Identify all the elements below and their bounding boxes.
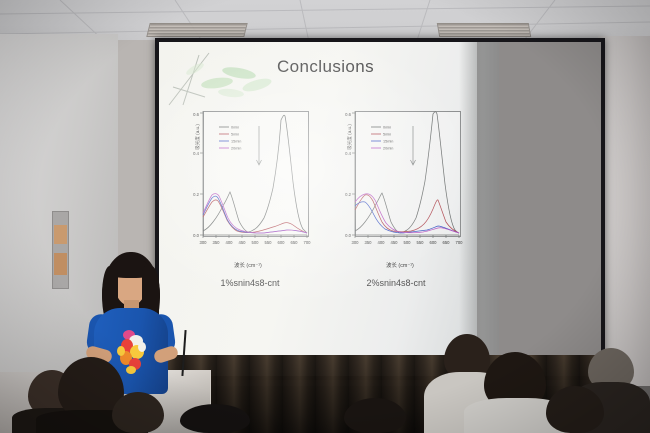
- chart-left-ylabel: 吸光度 (a.u.): [195, 98, 201, 176]
- svg-text:300: 300: [200, 240, 208, 245]
- svg-text:600: 600: [278, 240, 286, 245]
- chart-right-ylabel: 吸光度 (a.u.): [347, 98, 353, 176]
- projected-slide: Conclusions: [159, 42, 477, 376]
- svg-text:350: 350: [365, 240, 373, 245]
- svg-text:0min: 0min: [231, 126, 239, 130]
- air-vent: [437, 23, 531, 37]
- svg-text:0.0: 0.0: [345, 233, 351, 238]
- svg-text:400: 400: [378, 240, 386, 245]
- chart-right-xlabel: 波长 (cm⁻¹): [335, 261, 465, 269]
- svg-text:300: 300: [352, 240, 360, 245]
- bamboo-leaves-image: [165, 47, 285, 109]
- wall-mounted-brochure-rack: [52, 211, 69, 289]
- svg-text:15min: 15min: [383, 140, 393, 144]
- projection-screen: Conclusions: [155, 38, 605, 380]
- slide-title: Conclusions: [277, 57, 374, 77]
- audience-member: [344, 398, 406, 433]
- screen-surface: Conclusions: [159, 42, 601, 376]
- brochure-card: [54, 253, 67, 275]
- svg-text:20min: 20min: [383, 147, 393, 151]
- svg-text:5min: 5min: [383, 133, 391, 137]
- svg-text:0.2: 0.2: [193, 192, 199, 197]
- chart-right-legend: 0min 5min 15min 20min: [371, 126, 393, 151]
- svg-text:700: 700: [304, 240, 312, 245]
- svg-text:700: 700: [456, 240, 464, 245]
- caption-right: 2%snin4s8-cnt: [321, 278, 471, 288]
- trend-arrow-icon: [411, 126, 416, 165]
- svg-text:0min: 0min: [383, 126, 391, 130]
- caption-left: 1%snin4s8-cnt: [175, 278, 325, 288]
- chart-right-svg: 300350 400450 500550 600650 700 0.00.2 0…: [335, 108, 465, 258]
- svg-text:450: 450: [239, 240, 247, 245]
- svg-text:0.2: 0.2: [345, 192, 351, 197]
- air-vent: [146, 23, 247, 37]
- chart-left: 300350 400450 500550 600650 700 0.00.2 0…: [183, 108, 313, 268]
- chart-left-legend: 0min 5min 15min 20min: [219, 126, 241, 151]
- svg-text:0.0: 0.0: [193, 233, 199, 238]
- svg-text:500: 500: [404, 240, 412, 245]
- svg-text:550: 550: [417, 240, 425, 245]
- trend-arrow-icon: [257, 126, 262, 165]
- svg-text:650: 650: [443, 240, 451, 245]
- chart-right: 300350 400450 500550 600650 700 0.00.2 0…: [335, 108, 465, 268]
- svg-text:5min: 5min: [231, 133, 239, 137]
- svg-text:450: 450: [391, 240, 399, 245]
- svg-text:20min: 20min: [231, 147, 241, 151]
- audience-member: [180, 404, 250, 433]
- svg-text:400: 400: [226, 240, 234, 245]
- svg-text:500: 500: [252, 240, 260, 245]
- svg-text:650: 650: [291, 240, 299, 245]
- shirt-graphic-icon: [112, 326, 152, 374]
- chart-left-svg: 300350 400450 500550 600650 700 0.00.2 0…: [183, 108, 313, 258]
- presentation-room-photo: Conclusions: [0, 0, 650, 433]
- audience-member: [112, 392, 164, 433]
- brochure-card: [54, 225, 67, 244]
- projection-falloff: [459, 42, 499, 376]
- right-wall: [598, 36, 650, 386]
- svg-text:550: 550: [265, 240, 273, 245]
- chart-left-xlabel: 波长 (cm⁻¹): [183, 261, 313, 269]
- svg-text:15min: 15min: [231, 140, 241, 144]
- audience-member: [546, 386, 604, 433]
- svg-text:600: 600: [430, 240, 438, 245]
- svg-text:350: 350: [213, 240, 221, 245]
